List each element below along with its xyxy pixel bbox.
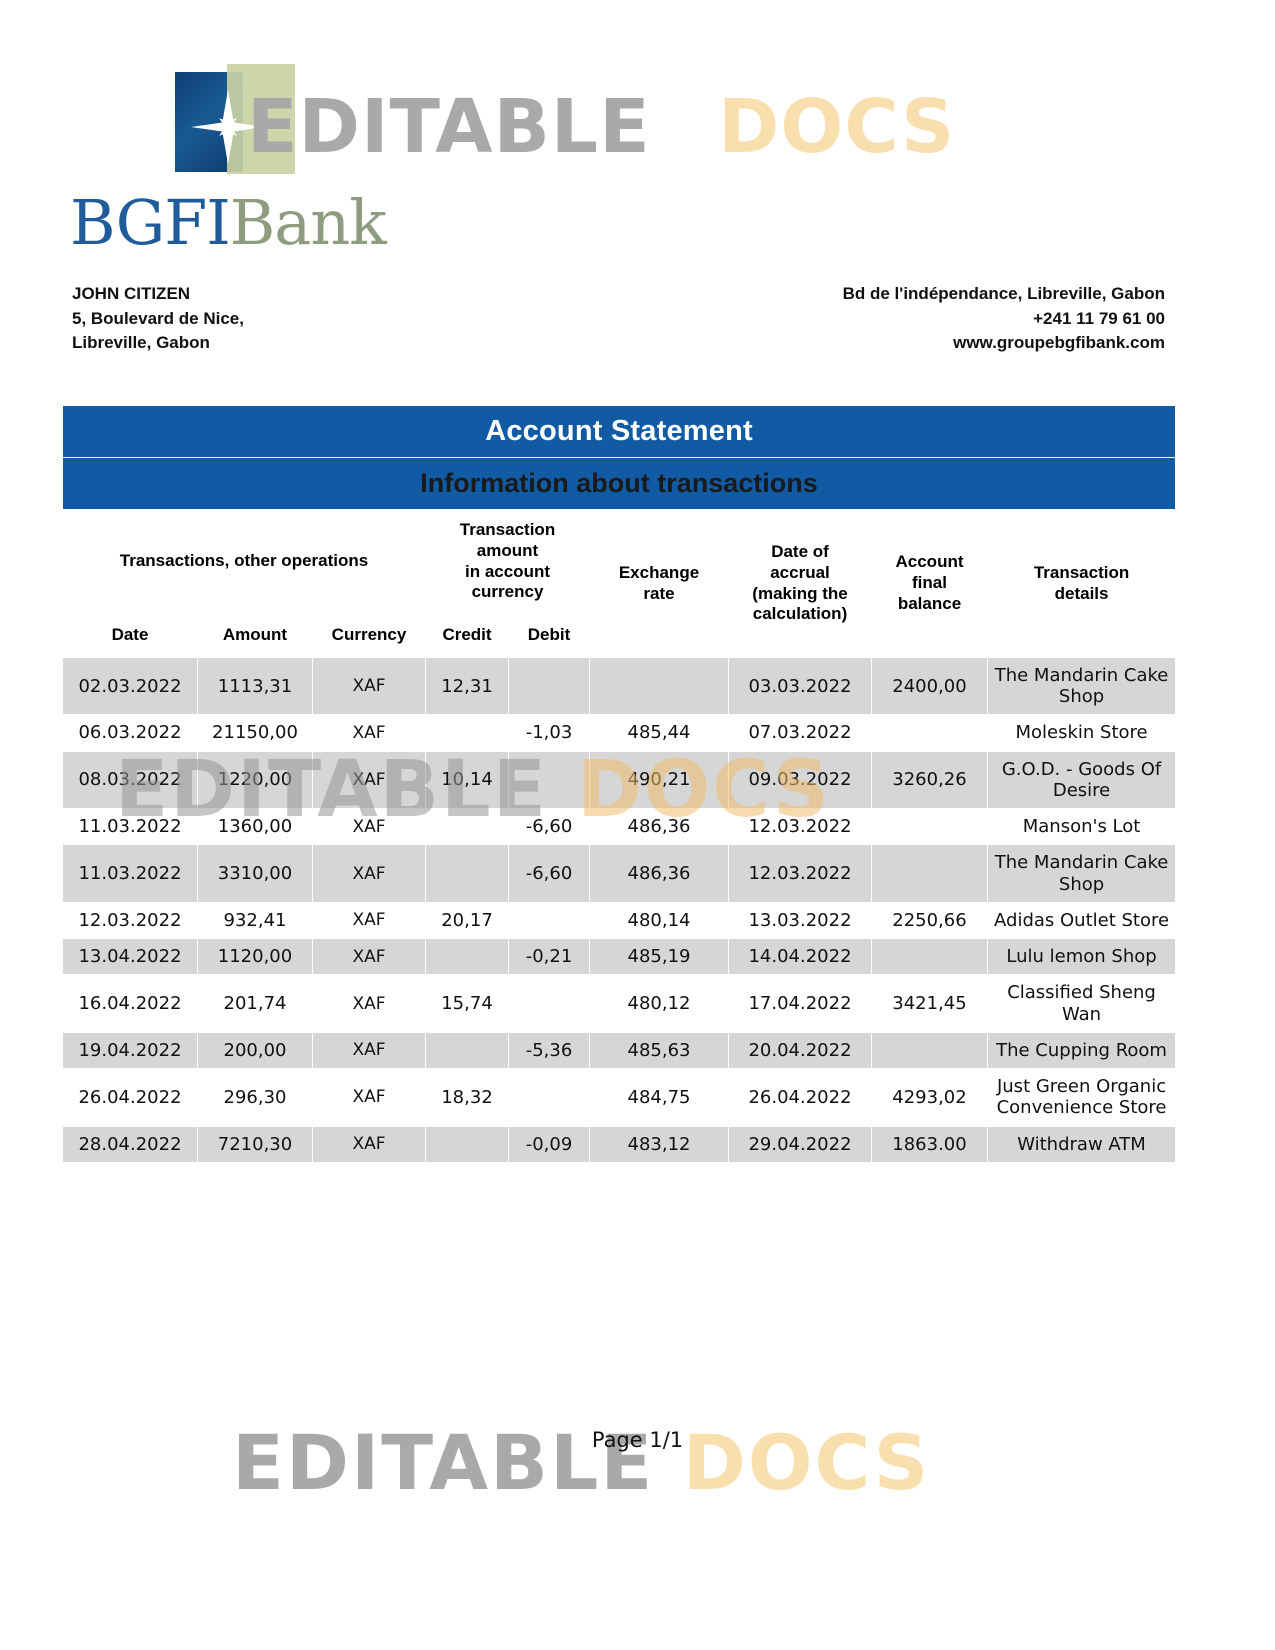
cell-debit bbox=[509, 975, 590, 1032]
cell-debit bbox=[509, 902, 590, 938]
header-amount: Amount bbox=[198, 614, 313, 658]
header-currency: Currency bbox=[313, 614, 426, 658]
cell-debit bbox=[509, 751, 590, 808]
statement-table-container: Account Statement Information about tran… bbox=[62, 405, 1175, 1163]
cell-debit: -1,03 bbox=[509, 715, 590, 751]
cell-exchange-rate: 485,44 bbox=[590, 715, 729, 751]
table-row: 11.03.20223310,00XAF-6,60486,3612.03.202… bbox=[63, 845, 1176, 902]
customer-name: JOHN CITIZEN bbox=[72, 282, 244, 307]
page-title: Account Statement bbox=[63, 406, 1176, 458]
cell-final-balance: 2250,66 bbox=[872, 902, 988, 938]
cell-final-balance bbox=[872, 715, 988, 751]
bank-website[interactable]: www.groupebgfibank.com bbox=[843, 331, 1165, 356]
cell-details: The Mandarin Cake Shop bbox=[988, 845, 1176, 902]
cell-final-balance bbox=[872, 939, 988, 975]
header-exchange-rate: Exchange rate bbox=[590, 510, 729, 658]
table-row: 11.03.20221360,00XAF-6,60486,3612.03.202… bbox=[63, 809, 1176, 845]
top-watermark-logo: EDITABLE DOCS bbox=[175, 62, 1035, 182]
cell-date: 11.03.2022 bbox=[63, 809, 198, 845]
cell-currency: XAF bbox=[313, 1069, 426, 1126]
cell-amount: 1120,00 bbox=[198, 939, 313, 975]
cell-currency: XAF bbox=[313, 939, 426, 975]
cell-currency: XAF bbox=[313, 809, 426, 845]
bank-logo-bgfi: BGFI bbox=[70, 186, 230, 259]
cell-credit bbox=[426, 939, 509, 975]
cell-currency: XAF bbox=[313, 658, 426, 715]
cell-accrual-date: 12.03.2022 bbox=[729, 809, 872, 845]
bank-contact-block: Bd de l'indépendance, Libreville, Gabon … bbox=[843, 282, 1165, 356]
cell-debit: -6,60 bbox=[509, 845, 590, 902]
cell-currency: XAF bbox=[313, 975, 426, 1032]
cell-credit bbox=[426, 1032, 509, 1068]
cell-amount: 201,74 bbox=[198, 975, 313, 1032]
cell-currency: XAF bbox=[313, 1126, 426, 1162]
table-group-header-row: Transactions, other operations Transacti… bbox=[63, 510, 1176, 614]
statement-table: Account Statement Information about tran… bbox=[62, 405, 1176, 1163]
customer-address-line1: 5, Boulevard de Nice, bbox=[72, 307, 244, 332]
cell-exchange-rate: 480,14 bbox=[590, 902, 729, 938]
cell-exchange-rate: 485,63 bbox=[590, 1032, 729, 1068]
bank-address-line: Bd de l'indépendance, Libreville, Gabon bbox=[843, 282, 1165, 307]
cell-debit: -5,36 bbox=[509, 1032, 590, 1068]
cell-amount: 7210,30 bbox=[198, 1126, 313, 1162]
cell-final-balance: 1863.00 bbox=[872, 1126, 988, 1162]
cell-date: 16.04.2022 bbox=[63, 975, 198, 1032]
cell-accrual-date: 29.04.2022 bbox=[729, 1126, 872, 1162]
cell-details: Just Green Organic Convenience Store bbox=[988, 1069, 1176, 1126]
cell-amount: 296,30 bbox=[198, 1069, 313, 1126]
statement-rows: 02.03.20221113,31XAF12,3103.03.20222400,… bbox=[63, 658, 1176, 1163]
watermark-top-editable: EDITABLE bbox=[247, 84, 651, 170]
cell-credit bbox=[426, 845, 509, 902]
cell-credit bbox=[426, 1126, 509, 1162]
cell-details: Withdraw ATM bbox=[988, 1126, 1176, 1162]
cell-details: Adidas Outlet Store bbox=[988, 902, 1176, 938]
cell-credit: 12,31 bbox=[426, 658, 509, 715]
cell-amount: 1360,00 bbox=[198, 809, 313, 845]
cell-credit: 20,17 bbox=[426, 902, 509, 938]
bank-logo: BGFIBank bbox=[70, 192, 386, 254]
cell-currency: XAF bbox=[313, 715, 426, 751]
cell-debit bbox=[509, 1069, 590, 1126]
header-account-final-balance: Account final balance bbox=[872, 510, 988, 658]
cell-exchange-rate: 480,12 bbox=[590, 975, 729, 1032]
cell-accrual-date: 20.04.2022 bbox=[729, 1032, 872, 1068]
cell-date: 12.03.2022 bbox=[63, 902, 198, 938]
cell-credit: 18,32 bbox=[426, 1069, 509, 1126]
cell-details: The Mandarin Cake Shop bbox=[988, 658, 1176, 715]
cell-accrual-date: 09.03.2022 bbox=[729, 751, 872, 808]
customer-address-line2: Libreville, Gabon bbox=[72, 331, 244, 356]
cell-currency: XAF bbox=[313, 751, 426, 808]
table-row: 28.04.20227210,30XAF-0,09483,1229.04.202… bbox=[63, 1126, 1176, 1162]
cell-accrual-date: 26.04.2022 bbox=[729, 1069, 872, 1126]
cell-accrual-date: 03.03.2022 bbox=[729, 658, 872, 715]
cell-debit bbox=[509, 658, 590, 715]
cell-details: Moleskin Store bbox=[988, 715, 1176, 751]
table-row: 19.04.2022200,00XAF-5,36485,6320.04.2022… bbox=[63, 1032, 1176, 1068]
table-row: 08.03.20221220,00XAF10,14490,2109.03.202… bbox=[63, 751, 1176, 808]
cell-final-balance bbox=[872, 845, 988, 902]
cell-amount: 1113,31 bbox=[198, 658, 313, 715]
cell-date: 13.04.2022 bbox=[63, 939, 198, 975]
statement-subtitle-row: Information about transactions bbox=[63, 458, 1176, 510]
cell-debit: -6,60 bbox=[509, 809, 590, 845]
table-row: 26.04.2022296,30XAF18,32484,7526.04.2022… bbox=[63, 1069, 1176, 1126]
cell-date: 11.03.2022 bbox=[63, 845, 198, 902]
statement-subtitle: Information about transactions bbox=[63, 458, 1176, 510]
cell-amount: 21150,00 bbox=[198, 715, 313, 751]
header-transaction-details: Transaction details bbox=[988, 510, 1176, 658]
cell-final-balance: 3260,26 bbox=[872, 751, 988, 808]
cell-date: 08.03.2022 bbox=[63, 751, 198, 808]
table-row: 06.03.202221150,00XAF-1,03485,4407.03.20… bbox=[63, 715, 1176, 751]
cell-final-balance: 3421,45 bbox=[872, 975, 988, 1032]
bank-logo-bank: Bank bbox=[230, 186, 386, 259]
cell-amount: 1220,00 bbox=[198, 751, 313, 808]
cell-amount: 200,00 bbox=[198, 1032, 313, 1068]
statement-page: EDITABLE DOCS BGFIBank JOHN CITIZEN 5, B… bbox=[0, 0, 1275, 1650]
watermark-top-docs: DOCS bbox=[718, 84, 955, 170]
cell-final-balance bbox=[872, 809, 988, 845]
header-credit: Credit bbox=[426, 614, 509, 658]
cell-exchange-rate: 486,36 bbox=[590, 845, 729, 902]
cell-debit: -0,09 bbox=[509, 1126, 590, 1162]
cell-details: Classified Sheng Wan bbox=[988, 975, 1176, 1032]
cell-currency: XAF bbox=[313, 845, 426, 902]
cell-accrual-date: 12.03.2022 bbox=[729, 845, 872, 902]
header-transactions: Transactions, other operations bbox=[63, 510, 426, 614]
cell-details: Manson's Lot bbox=[988, 809, 1176, 845]
page-number: Page 1/1 bbox=[0, 1428, 1275, 1452]
customer-address-block: JOHN CITIZEN 5, Boulevard de Nice, Libre… bbox=[72, 282, 244, 356]
cell-details: G.O.D. - Goods Of Desire bbox=[988, 751, 1176, 808]
header-date-of-accrual: Date of accrual (making the calculation) bbox=[729, 510, 872, 658]
cell-date: 28.04.2022 bbox=[63, 1126, 198, 1162]
cell-exchange-rate: 486,36 bbox=[590, 809, 729, 845]
cell-currency: XAF bbox=[313, 1032, 426, 1068]
cell-final-balance bbox=[872, 1032, 988, 1068]
cell-credit: 15,74 bbox=[426, 975, 509, 1032]
cell-amount: 3310,00 bbox=[198, 845, 313, 902]
table-row: 12.03.2022932,41XAF20,17480,1413.03.2022… bbox=[63, 902, 1176, 938]
cell-exchange-rate: 485,19 bbox=[590, 939, 729, 975]
cell-exchange-rate bbox=[590, 658, 729, 715]
header-transaction-amount: Transaction amount in account currency bbox=[426, 510, 590, 614]
table-row: 13.04.20221120,00XAF-0,21485,1914.04.202… bbox=[63, 939, 1176, 975]
bank-phone: +241 11 79 61 00 bbox=[843, 307, 1165, 332]
cell-accrual-date: 17.04.2022 bbox=[729, 975, 872, 1032]
cell-credit: 10,14 bbox=[426, 751, 509, 808]
cell-exchange-rate: 484,75 bbox=[590, 1069, 729, 1126]
table-row: 16.04.2022201,74XAF15,74480,1217.04.2022… bbox=[63, 975, 1176, 1032]
cell-credit bbox=[426, 809, 509, 845]
cell-details: The Cupping Room bbox=[988, 1032, 1176, 1068]
cell-accrual-date: 13.03.2022 bbox=[729, 902, 872, 938]
cell-date: 06.03.2022 bbox=[63, 715, 198, 751]
cell-date: 19.04.2022 bbox=[63, 1032, 198, 1068]
cell-currency: XAF bbox=[313, 902, 426, 938]
cell-exchange-rate: 490,21 bbox=[590, 751, 729, 808]
cell-date: 02.03.2022 bbox=[63, 658, 198, 715]
cell-final-balance: 2400,00 bbox=[872, 658, 988, 715]
table-row: 02.03.20221113,31XAF12,3103.03.20222400,… bbox=[63, 658, 1176, 715]
cell-final-balance: 4293,02 bbox=[872, 1069, 988, 1126]
header-debit: Debit bbox=[509, 614, 590, 658]
cell-debit: -0,21 bbox=[509, 939, 590, 975]
cell-exchange-rate: 483,12 bbox=[590, 1126, 729, 1162]
cell-date: 26.04.2022 bbox=[63, 1069, 198, 1126]
cell-accrual-date: 07.03.2022 bbox=[729, 715, 872, 751]
header-date: Date bbox=[63, 614, 198, 658]
cell-details: Lulu lemon Shop bbox=[988, 939, 1176, 975]
cell-amount: 932,41 bbox=[198, 902, 313, 938]
statement-title-row: Account Statement bbox=[63, 406, 1176, 458]
cell-credit bbox=[426, 715, 509, 751]
cell-accrual-date: 14.04.2022 bbox=[729, 939, 872, 975]
